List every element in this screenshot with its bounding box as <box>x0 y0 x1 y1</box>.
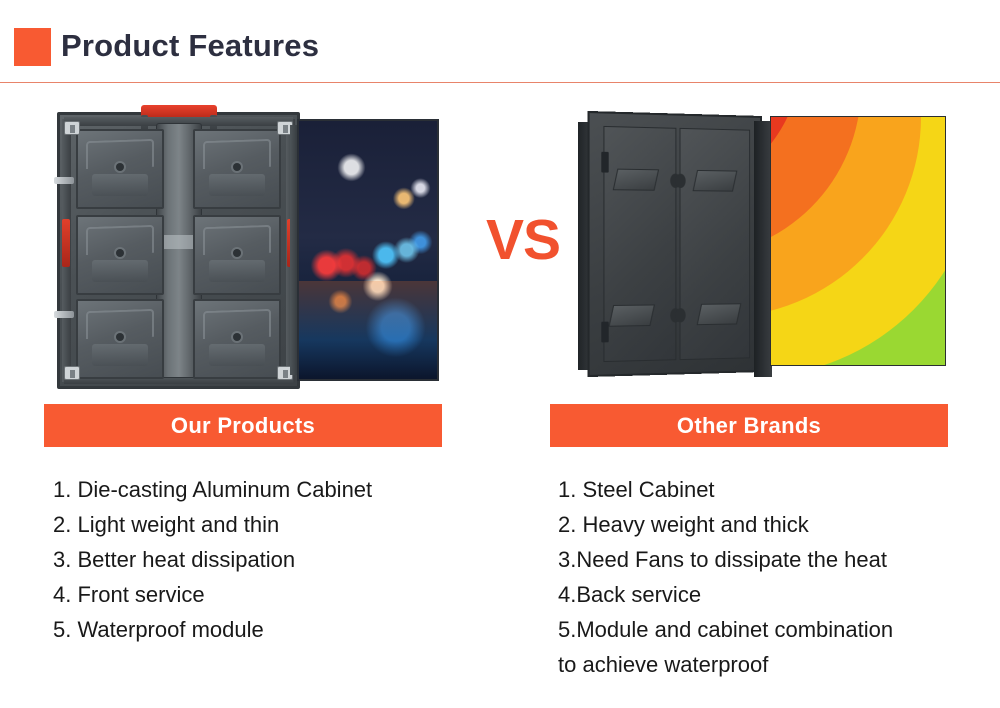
list-item: 3. Better heat dissipation <box>53 542 473 577</box>
list-item: 2. Light weight and thin <box>53 507 473 542</box>
page-header: Product Features <box>0 0 1000 84</box>
header-accent-square <box>14 28 51 66</box>
list-item: 1. Die-casting Aluminum Cabinet <box>53 472 473 507</box>
steel-cabinet-rear <box>587 111 762 377</box>
list-item: 5. Waterproof module <box>53 612 473 647</box>
cabinet-stud <box>116 249 124 257</box>
page-title: Product Features <box>61 24 319 68</box>
door-hinge <box>601 322 608 343</box>
led-panel-front-rainbow <box>770 116 946 366</box>
door-handle-lower <box>608 304 655 326</box>
die-cast-aluminum-cabinet-rear <box>57 112 300 389</box>
rainbow-panel-group <box>770 116 962 378</box>
led-panel-front-night-city <box>297 119 439 381</box>
product-showcase: VS <box>0 95 1000 390</box>
list-item: 5.Module and cabinet combination to achi… <box>558 612 958 682</box>
list-item: 4.Back service <box>558 577 958 612</box>
header-divider <box>0 82 1000 83</box>
list-item: 3.Need Fans to dissipate the heat <box>558 542 958 577</box>
list-item: 2. Heavy weight and thick <box>558 507 958 542</box>
cabinet-side-accent <box>62 219 70 267</box>
cabinet-stud <box>116 163 124 171</box>
steel-cabinet-door-right <box>679 128 750 360</box>
cabinet-stud <box>233 249 241 257</box>
door-latch <box>675 174 685 188</box>
cabinet-corner-lock <box>64 121 80 135</box>
door-handle-upper <box>693 170 738 192</box>
door-latch <box>675 308 685 322</box>
cabinet-lock-pin <box>54 311 74 318</box>
door-handle-lower <box>697 303 742 325</box>
list-item: 1. Steel Cabinet <box>558 472 958 507</box>
cabinet-stud <box>233 333 241 341</box>
cabinet-stud <box>233 163 241 171</box>
cabinet-stud <box>116 333 124 341</box>
cabinet-corner-lock <box>64 366 80 380</box>
banner-our-products: Our Products <box>44 404 442 447</box>
banner-other-brands: Other Brands <box>550 404 948 447</box>
steel-cabinet-door-left <box>603 126 676 362</box>
vs-label: VS <box>480 208 566 272</box>
list-item: 4. Front service <box>53 577 473 612</box>
cabinet-lock-pin <box>54 177 74 184</box>
steel-cabinet-group <box>592 116 768 378</box>
feature-list-our-products: 1. Die-casting Aluminum Cabinet 2. Light… <box>53 472 473 647</box>
feature-list-other-brands: 1. Steel Cabinet 2. Heavy weight and thi… <box>558 472 958 682</box>
door-handle-upper <box>613 169 659 191</box>
door-hinge <box>601 152 608 173</box>
